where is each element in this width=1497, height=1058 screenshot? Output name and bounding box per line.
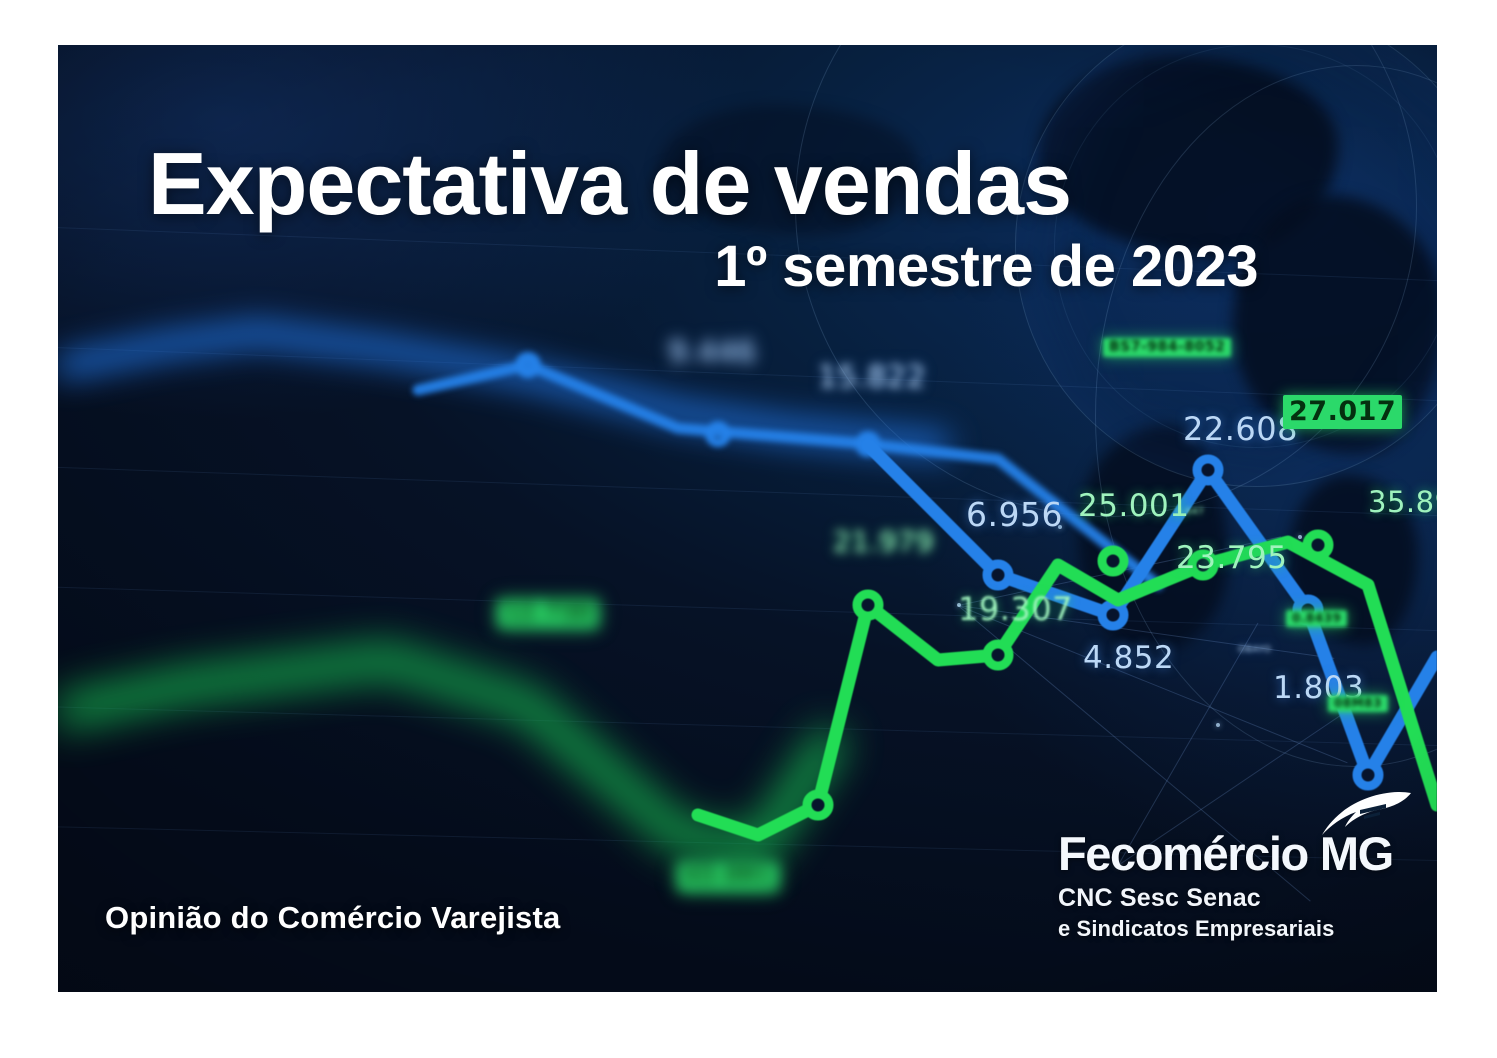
logo-subline-entities: CNC Sesc Senac xyxy=(1058,886,1418,911)
logo-subline-unions: e Sindicatos Empresariais xyxy=(1058,918,1418,940)
logo-wordmark: FecomércioMG xyxy=(1058,830,1418,877)
page-subtitle: 1º semestre de 2023 xyxy=(148,237,1258,298)
slide-page: 9.446 15.822 21.979 12.730 43.091 6.956 … xyxy=(0,0,1497,1058)
fecomercio-logo: FecomércioMG CNC Sesc Senac e Sindicatos… xyxy=(1058,830,1418,940)
cover-kicker: Opinião do Comércio Varejista xyxy=(105,900,560,936)
page-title: Expectativa de vendas xyxy=(148,139,1258,229)
cover-image: 9.446 15.822 21.979 12.730 43.091 6.956 … xyxy=(58,45,1437,992)
headline-block: Expectativa de vendas 1º semestre de 202… xyxy=(148,139,1258,298)
logo-name-state: MG xyxy=(1320,827,1393,880)
logo-name-primary: Fecomércio xyxy=(1058,827,1308,880)
